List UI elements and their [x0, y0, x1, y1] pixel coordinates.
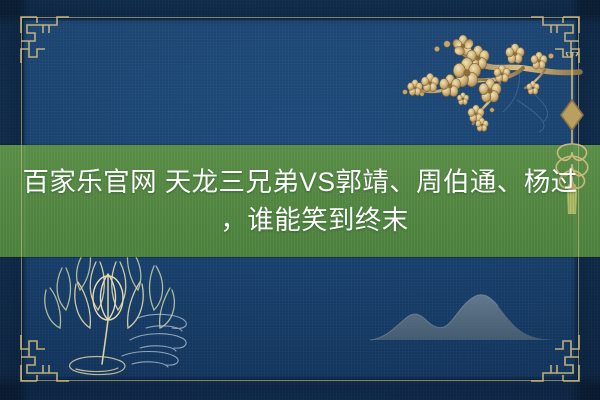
headline-line-1: 百家乐官网 天龙三兄弟VS郭靖、周伯通、杨过: [22, 163, 577, 201]
mountain-icon: [368, 284, 578, 350]
headline-line-2: ，谁能笑到终末: [191, 201, 408, 239]
poster-canvas: 百家乐官网 天龙三兄弟VS郭靖、周伯通、杨过 ，谁能笑到终末: [0, 0, 600, 400]
maze-corner-icon-top-left: [13, 9, 75, 71]
page-title: 百家乐官网 天龙三兄弟VS郭靖、周伯通、杨过 ，谁能笑到终末: [0, 145, 600, 257]
